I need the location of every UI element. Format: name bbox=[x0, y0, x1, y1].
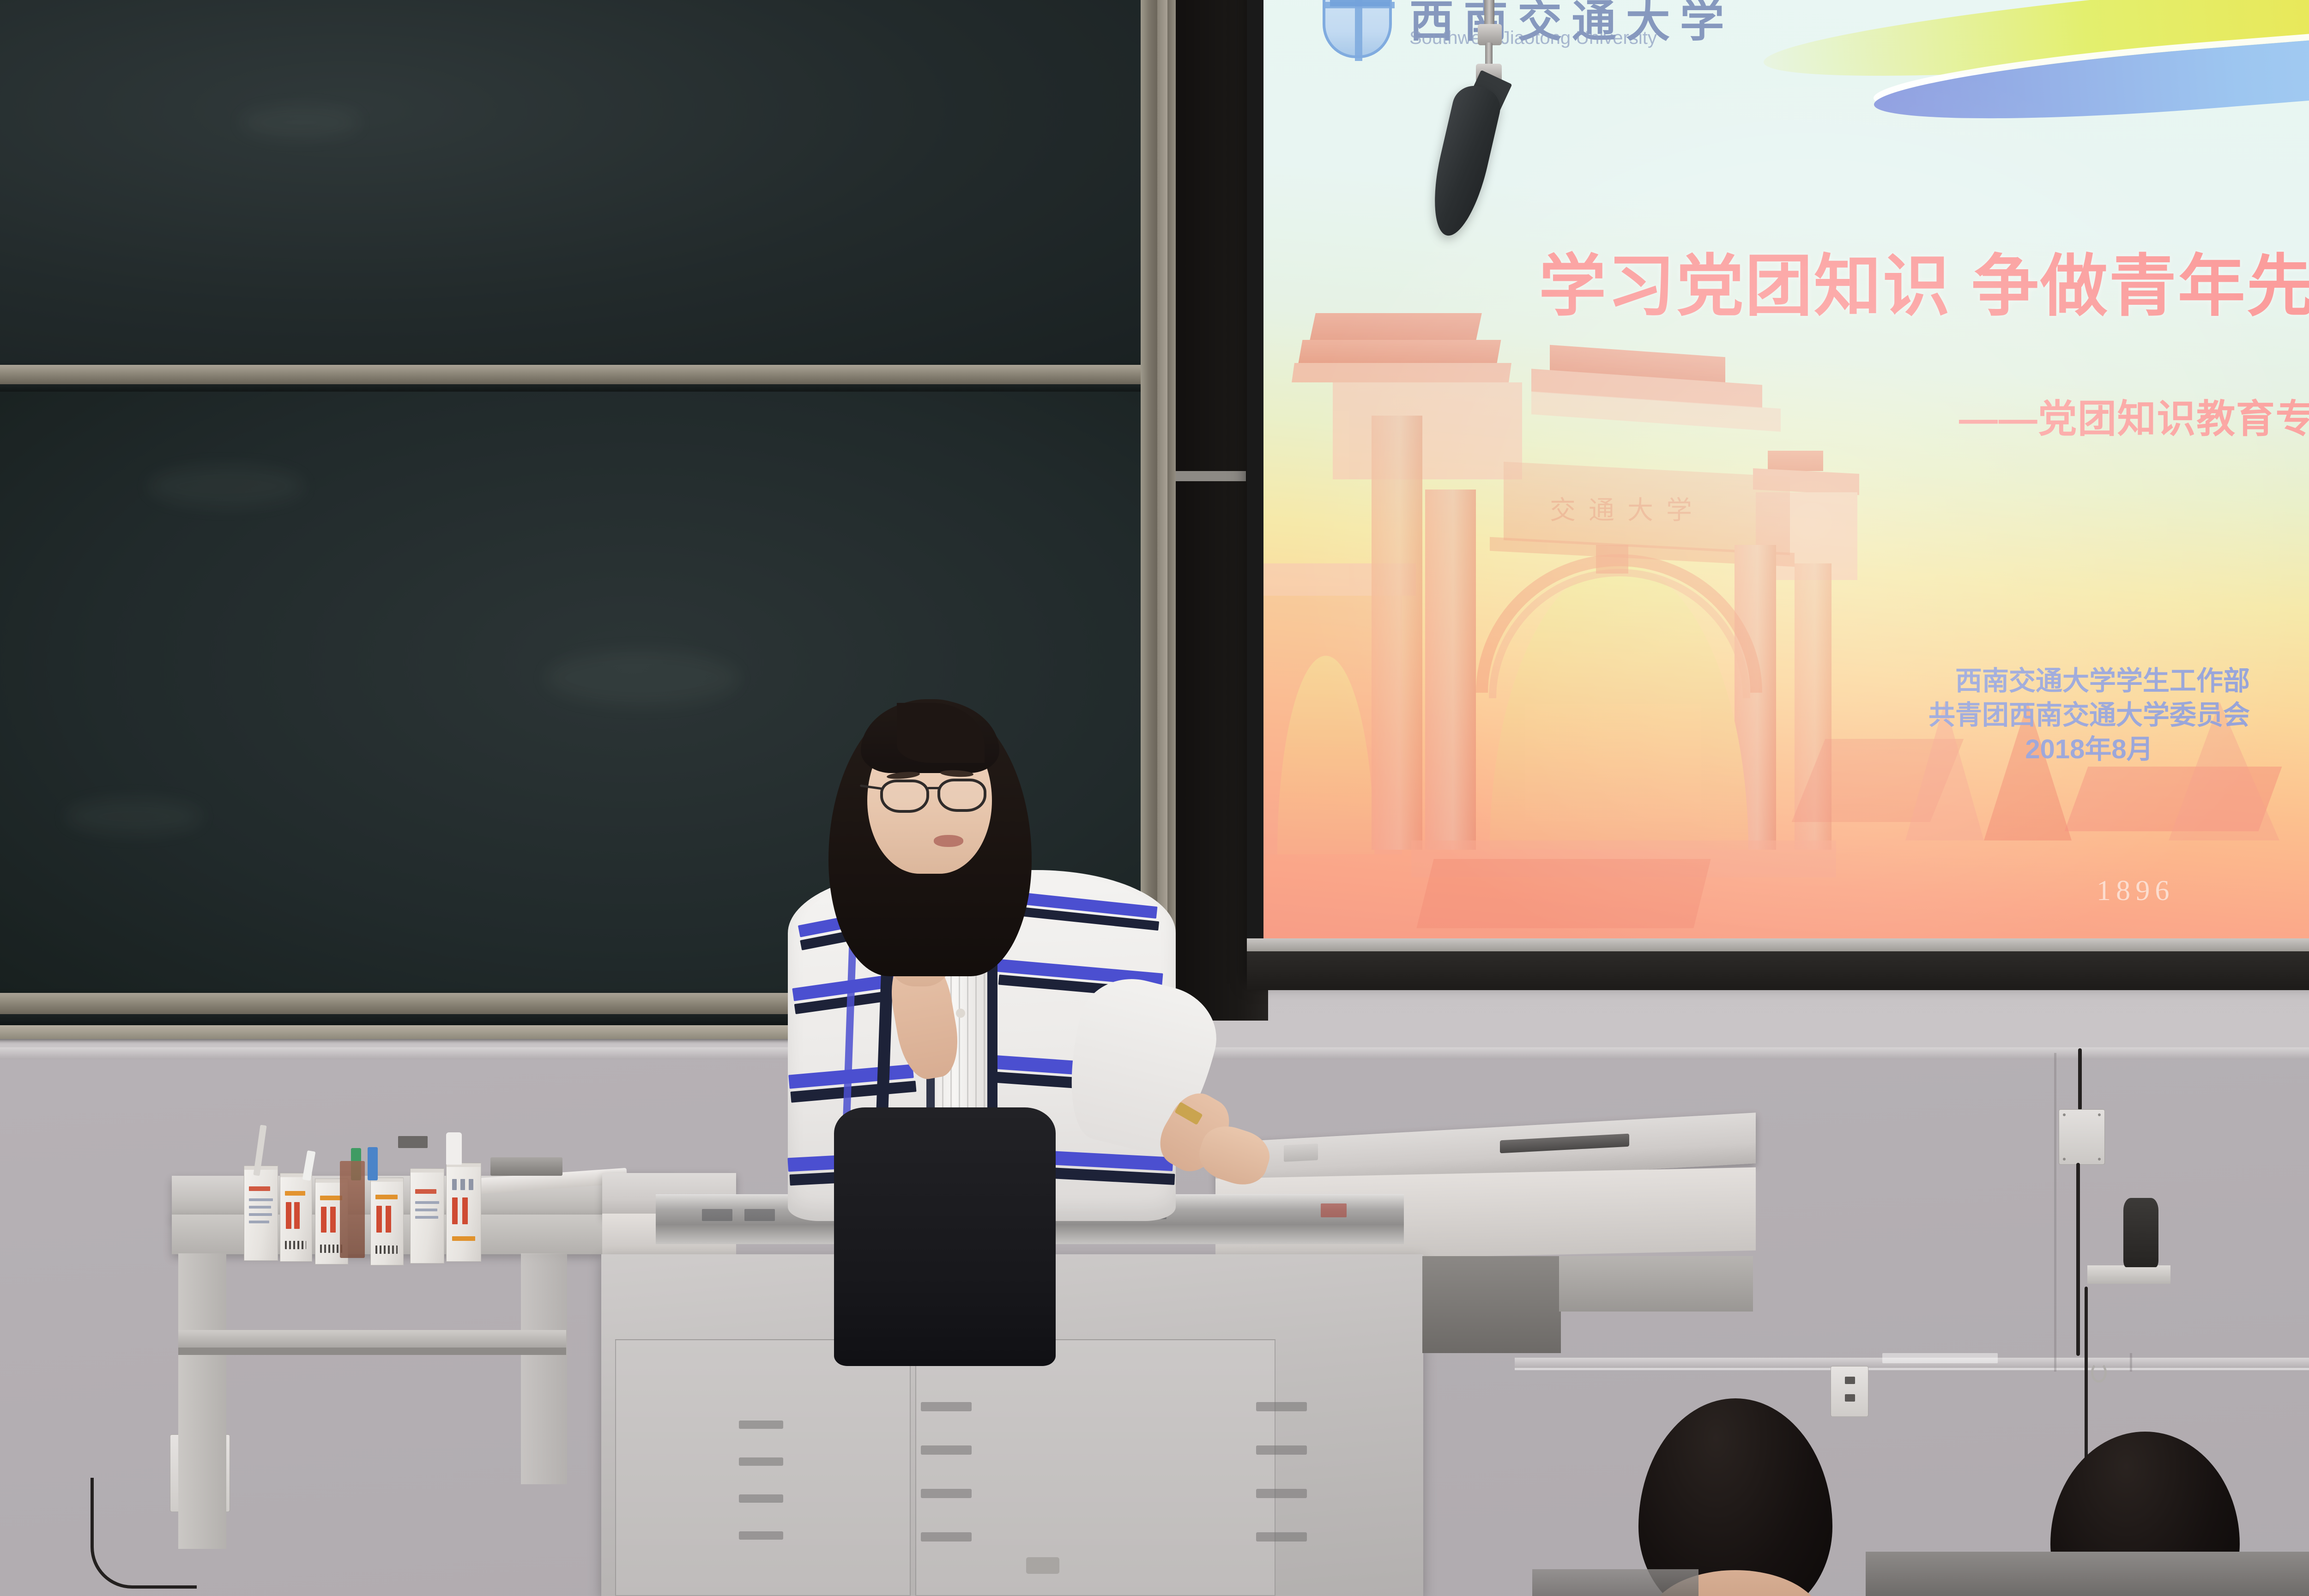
chalk-box-1 bbox=[244, 1166, 278, 1261]
wall-vertical-seam bbox=[2054, 1053, 2056, 1372]
podium-vent-8 bbox=[921, 1532, 972, 1542]
slide-logo-english-name: Southwest Jiaotong University bbox=[1409, 28, 1657, 48]
chalk-box-5 bbox=[410, 1168, 444, 1263]
chalk-box-2 bbox=[280, 1173, 312, 1262]
table-eraser bbox=[490, 1157, 562, 1176]
speaker-glasses-bridge bbox=[927, 787, 940, 789]
podium-cabinet-door-right bbox=[915, 1339, 1275, 1596]
rail-notch-1 bbox=[702, 1209, 732, 1221]
screen-bottom-shadow bbox=[1247, 951, 2309, 990]
podium-vent-3 bbox=[739, 1494, 783, 1503]
chalk-box-4 bbox=[370, 1178, 404, 1265]
blackboard-panel-top bbox=[0, 0, 1150, 365]
founding-year-label: 1896 bbox=[2097, 875, 2175, 907]
speaker-glasses-lens-left bbox=[880, 780, 929, 813]
podium-vent-11 bbox=[1256, 1489, 1307, 1498]
podium-vent-7 bbox=[921, 1489, 972, 1498]
slide-subtitle: ——党团知识教育专题 bbox=[1959, 388, 2309, 444]
junction-box bbox=[2059, 1109, 2105, 1165]
tissue-pack bbox=[446, 1132, 462, 1165]
podium-vent-6 bbox=[921, 1445, 972, 1455]
swjtu-shield-crest-icon bbox=[1323, 0, 1392, 58]
speaker-glasses-lens-right bbox=[937, 779, 986, 812]
podium-vent-9 bbox=[1256, 1402, 1307, 1411]
wall-seam-right bbox=[1515, 1368, 2309, 1370]
blackboard-divider-rail bbox=[0, 365, 1154, 384]
campus-gate-illustration: 交通大学 bbox=[1273, 305, 1965, 928]
marker-blue bbox=[368, 1147, 378, 1180]
gate-inscription-text: 交通大学 bbox=[1550, 490, 1705, 527]
wall-ledge-shelf bbox=[2087, 1265, 2170, 1284]
audience-desk-surface-left bbox=[1532, 1569, 1699, 1596]
podium-right-shadow-gap bbox=[1422, 1256, 1561, 1353]
projection-screen-surface: 西南交通大学 Southwest Jiaotong University 交通大… bbox=[1263, 0, 2309, 947]
podium-small-latch bbox=[1284, 1143, 1318, 1162]
podium-vent-10 bbox=[1256, 1445, 1307, 1455]
podium-vent-12 bbox=[1256, 1532, 1307, 1542]
slide-footer-line-3: 2018年8月 bbox=[1928, 732, 2250, 767]
podium-vent-2 bbox=[739, 1457, 783, 1466]
podium-vent-4 bbox=[739, 1531, 783, 1540]
brown-box bbox=[340, 1161, 365, 1258]
wall-hook bbox=[2091, 1362, 2107, 1383]
classroom-photo-scene: 西南交通大学 Southwest Jiaotong University 交通大… bbox=[0, 0, 2309, 1596]
small-metal-tab bbox=[398, 1136, 428, 1148]
podium-vent-1 bbox=[739, 1421, 783, 1429]
speaker-skirt bbox=[834, 1107, 1056, 1366]
slide-footer-line-1: 西南交通大学学生工作部 bbox=[1928, 664, 2250, 698]
wall-vertical-seam-2 bbox=[2130, 1353, 2132, 1372]
audience-desk-surface bbox=[1866, 1552, 2309, 1596]
wall-cable-upper bbox=[2078, 1048, 2082, 1110]
screen-left-bracket bbox=[1176, 471, 1246, 481]
power-outlet-right bbox=[1831, 1366, 1868, 1417]
side-table-leg-right bbox=[521, 1253, 567, 1484]
blackboard-divider-shadow bbox=[0, 384, 1154, 392]
speaker-mouth bbox=[934, 835, 963, 847]
board-screen-divider-strip bbox=[1141, 0, 1157, 1044]
chalkboard-eraser-on-ledge bbox=[2123, 1198, 2158, 1267]
wall-panel-seam bbox=[1882, 1353, 1998, 1363]
side-table-leg-left bbox=[178, 1253, 226, 1549]
podium-door-handle[interactable] bbox=[1026, 1557, 1059, 1574]
slide-footer-line-2: 共青团西南交通大学委员会 bbox=[1928, 698, 2250, 732]
chalk-box-6 bbox=[446, 1163, 481, 1262]
wall-cable-lower bbox=[2076, 1163, 2080, 1356]
board-screen-divider-strip-3 bbox=[1167, 0, 1176, 1044]
rail-notch-2 bbox=[744, 1209, 775, 1221]
slide-title: 学习党团知识 争做青年先锋 bbox=[1539, 232, 2309, 329]
microphone-rod bbox=[1484, 0, 1494, 28]
board-screen-divider-strip-2 bbox=[1157, 0, 1167, 1044]
side-table-rail-shadow bbox=[178, 1348, 566, 1355]
rail-indicator bbox=[1321, 1203, 1347, 1217]
podium-vent-5 bbox=[921, 1402, 972, 1411]
podium-right-underside bbox=[1559, 1256, 1753, 1312]
podium-cabinet-door-left bbox=[615, 1339, 911, 1596]
microphone-rod-lower bbox=[1485, 42, 1493, 66]
